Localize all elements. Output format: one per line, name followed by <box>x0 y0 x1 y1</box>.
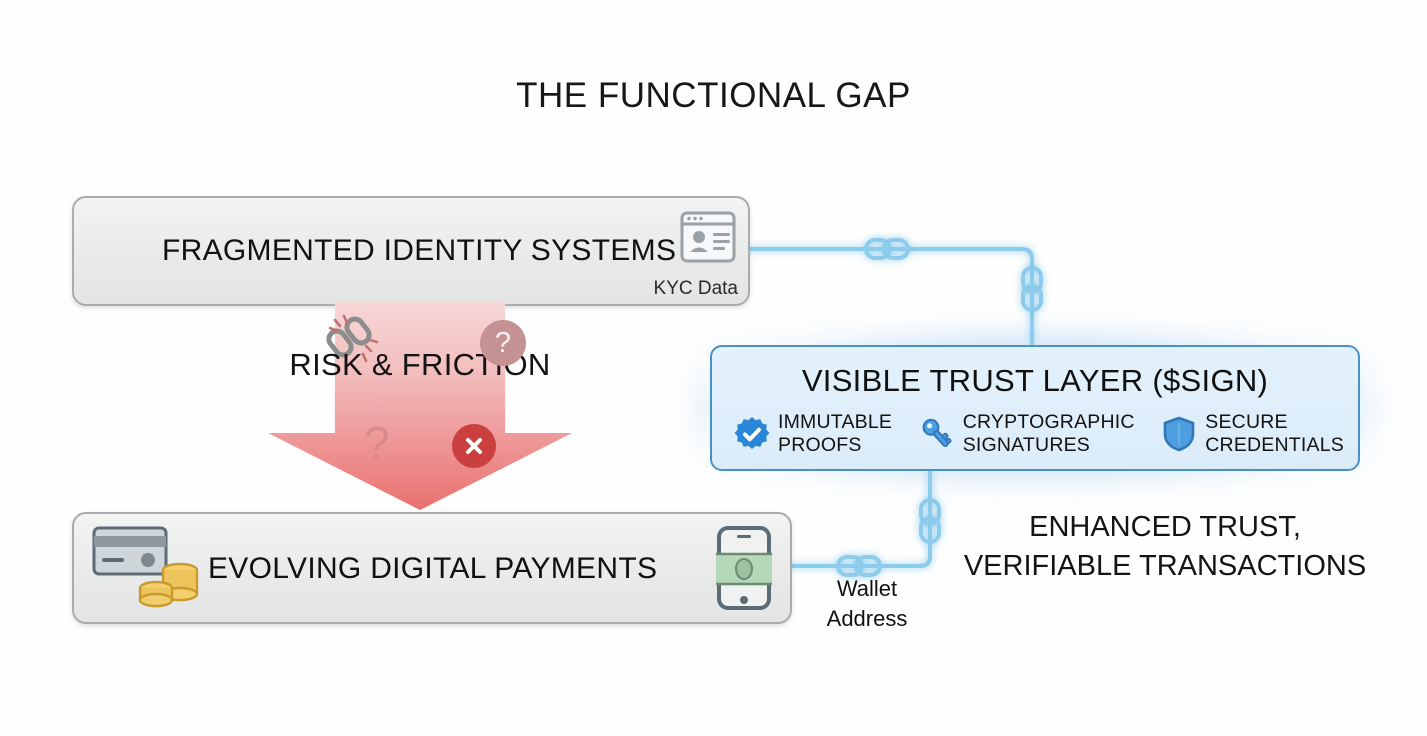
visible-trust-layer-box[interactable]: VISIBLE TRUST LAYER ($SIGN) IMMUTABLE PR… <box>710 345 1360 471</box>
kyc-data-caption: KYC Data <box>654 278 738 300</box>
question-mark-glyph: ? <box>495 327 511 360</box>
risk-friction-text: RISK & FRICTION <box>268 346 572 384</box>
evolving-digital-payments-box[interactable]: EVOLVING DIGITAL PAYMENTS <box>72 512 792 624</box>
feature-cryptographic-signatures[interactable]: CRYPTOGRAPHIC SIGNATURES <box>919 411 1135 457</box>
identity-box-label: FRAGMENTED IDENTITY SYSTEMS <box>162 234 676 268</box>
error-x-badge <box>452 424 496 468</box>
chain-link-icon <box>866 240 908 258</box>
payments-box-label: EVOLVING DIGITAL PAYMENTS <box>208 552 657 586</box>
feature-label: CRYPTOGRAPHIC SIGNATURES <box>963 411 1135 457</box>
feature-immutable-proofs[interactable]: IMMUTABLE PROOFS <box>734 411 892 457</box>
fragmented-identity-systems-box[interactable]: FRAGMENTED IDENTITY SYSTEMS KYC Data <box>72 196 750 306</box>
feature-label: IMMUTABLE PROOFS <box>778 411 892 457</box>
page-title: THE FUNCTIONAL GAP <box>0 76 1427 116</box>
shield-icon <box>1161 416 1197 452</box>
question-mark-badge: ? <box>480 320 526 366</box>
key-icon <box>919 416 955 452</box>
verified-badge-icon <box>734 416 770 452</box>
feature-label: SECURE CREDENTIALS <box>1205 411 1344 457</box>
coin-stack-icon <box>136 556 204 612</box>
outcome-text: ENHANCED TRUST, VERIFIABLE TRANSACTIONS <box>930 508 1400 586</box>
trust-layer-title: VISIBLE TRUST LAYER ($SIGN) <box>712 363 1358 399</box>
diagram-canvas: THE FUNCTIONAL GAP <box>0 0 1427 736</box>
trust-feature-list: IMMUTABLE PROOFS CRYPTOGRAPHIC SIGNATURE… <box>734 411 1344 457</box>
feature-secure-credentials[interactable]: SECURE CREDENTIALS <box>1161 411 1344 457</box>
wallet-address-caption: Wallet Address <box>786 574 948 633</box>
phone-cash-icon <box>716 526 772 610</box>
question-mark-ghost-icon: ? <box>364 416 390 470</box>
arrow-shape <box>268 302 572 510</box>
close-icon <box>461 433 487 459</box>
risk-friction-arrow: RISK & FRICTION ? ? <box>268 302 572 510</box>
id-card-icon <box>680 211 736 263</box>
chain-link-icon <box>1023 268 1041 310</box>
chain-link-icon <box>838 557 880 575</box>
